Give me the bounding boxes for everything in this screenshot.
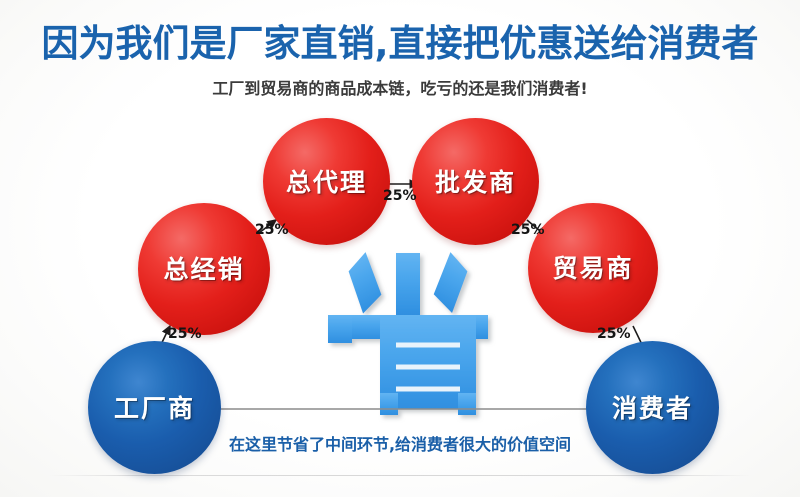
bottom-divider [48, 475, 752, 476]
node-factory-label: 工厂商 [114, 389, 195, 425]
promo-poster: 因为我们是厂家直销,直接把优惠送给消费者 工厂到贸易商的商品成本链，吃亏的还是我… [0, 0, 800, 497]
save-character-glyph [318, 243, 498, 423]
page-title: 因为我们是厂家直销,直接把优惠送给消费者 [0, 22, 800, 66]
node-general-agent-label: 总代理 [286, 163, 367, 199]
edge-label-wholesaler-trader: 25% [511, 222, 545, 238]
node-trader-label: 贸易商 [552, 249, 633, 285]
page-subtitle: 工厂到贸易商的商品成本链，吃亏的还是我们消费者! [0, 78, 800, 100]
node-wholesaler-label: 批发商 [435, 163, 516, 199]
bottom-caption: 在这里节省了中间环节,给消费者很大的价值空间 [0, 434, 800, 456]
node-trader[interactable]: 贸易商 [528, 203, 658, 333]
node-consumer-label: 消费者 [612, 389, 693, 425]
edge-label-factory-general: 25% [168, 326, 202, 342]
edge-label-trader-consumer: 25% [597, 326, 631, 342]
edge-label-general-agent: 25% [255, 222, 289, 238]
node-general-distributor-label: 总经销 [163, 250, 244, 286]
edge-label-agent-wholesaler: 25% [383, 188, 417, 204]
node-general-distributor[interactable]: 总经销 [138, 203, 270, 335]
